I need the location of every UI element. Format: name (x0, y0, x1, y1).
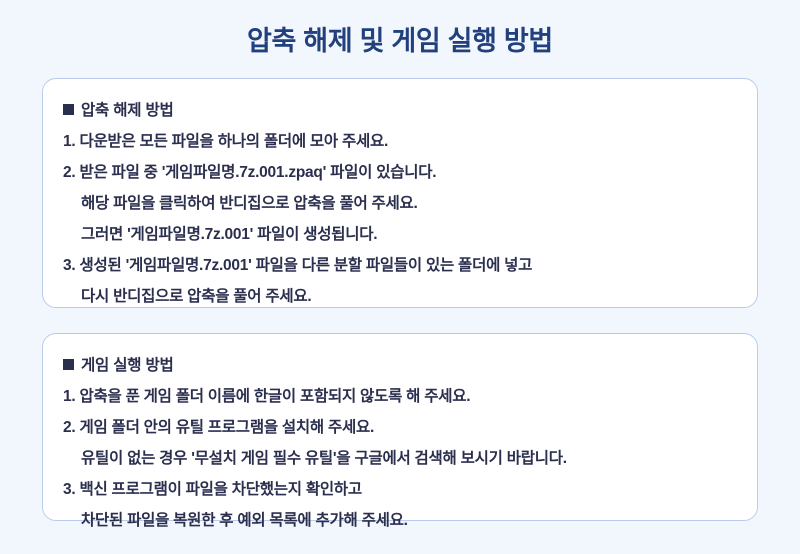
step-line: 해당 파일을 클릭하여 반디집으로 압축을 풀어 주세요. (63, 188, 737, 219)
card-run-instructions: 게임 실행 방법 1. 압축을 푼 게임 폴더 이름에 한글이 포함되지 않도록… (42, 333, 758, 521)
square-bullet-icon (63, 104, 74, 115)
step-line: 그러면 '게임파일명.7z.001' 파일이 생성됩니다. (63, 219, 737, 250)
card-unzip-instructions: 압축 해제 방법 1. 다운받은 모든 파일을 하나의 폴더에 모아 주세요. … (42, 78, 758, 308)
square-bullet-icon (63, 359, 74, 370)
step-line: 유틸이 없는 경우 '무설치 게임 필수 유틸'을 구글에서 검색해 보시기 바… (63, 443, 737, 474)
section-heading-run: 게임 실행 방법 (63, 350, 737, 381)
step-line: 1. 다운받은 모든 파일을 하나의 폴더에 모아 주세요. (63, 126, 737, 157)
page-root: 압축 해제 및 게임 실행 방법 압축 해제 방법 1. 다운받은 모든 파일을… (0, 0, 800, 554)
section-heading-run-label: 게임 실행 방법 (81, 357, 174, 374)
step-line: 3. 생성된 '게임파일명.7z.001' 파일을 다른 분할 파일들이 있는 … (63, 250, 737, 281)
section-heading-unzip-label: 압축 해제 방법 (81, 102, 174, 119)
step-line: 3. 백신 프로그램이 파일을 차단했는지 확인하고 (63, 474, 737, 505)
card-run-content: 게임 실행 방법 1. 압축을 푼 게임 폴더 이름에 한글이 포함되지 않도록… (43, 334, 757, 550)
step-line: 2. 게임 폴더 안의 유틸 프로그램을 설치해 주세요. (63, 412, 737, 443)
step-line: 다시 반디집으로 압축을 풀어 주세요. (63, 281, 737, 312)
card-unzip-content: 압축 해제 방법 1. 다운받은 모든 파일을 하나의 폴더에 모아 주세요. … (43, 79, 757, 326)
step-line: 1. 압축을 푼 게임 폴더 이름에 한글이 포함되지 않도록 해 주세요. (63, 381, 737, 412)
section-heading-unzip: 압축 해제 방법 (63, 95, 737, 126)
step-line: 차단된 파일을 복원한 후 예외 목록에 추가해 주세요. (63, 505, 737, 536)
page-title: 압축 해제 및 게임 실행 방법 (0, 0, 800, 55)
step-line: 2. 받은 파일 중 '게임파일명.7z.001.zpaq' 파일이 있습니다. (63, 157, 737, 188)
